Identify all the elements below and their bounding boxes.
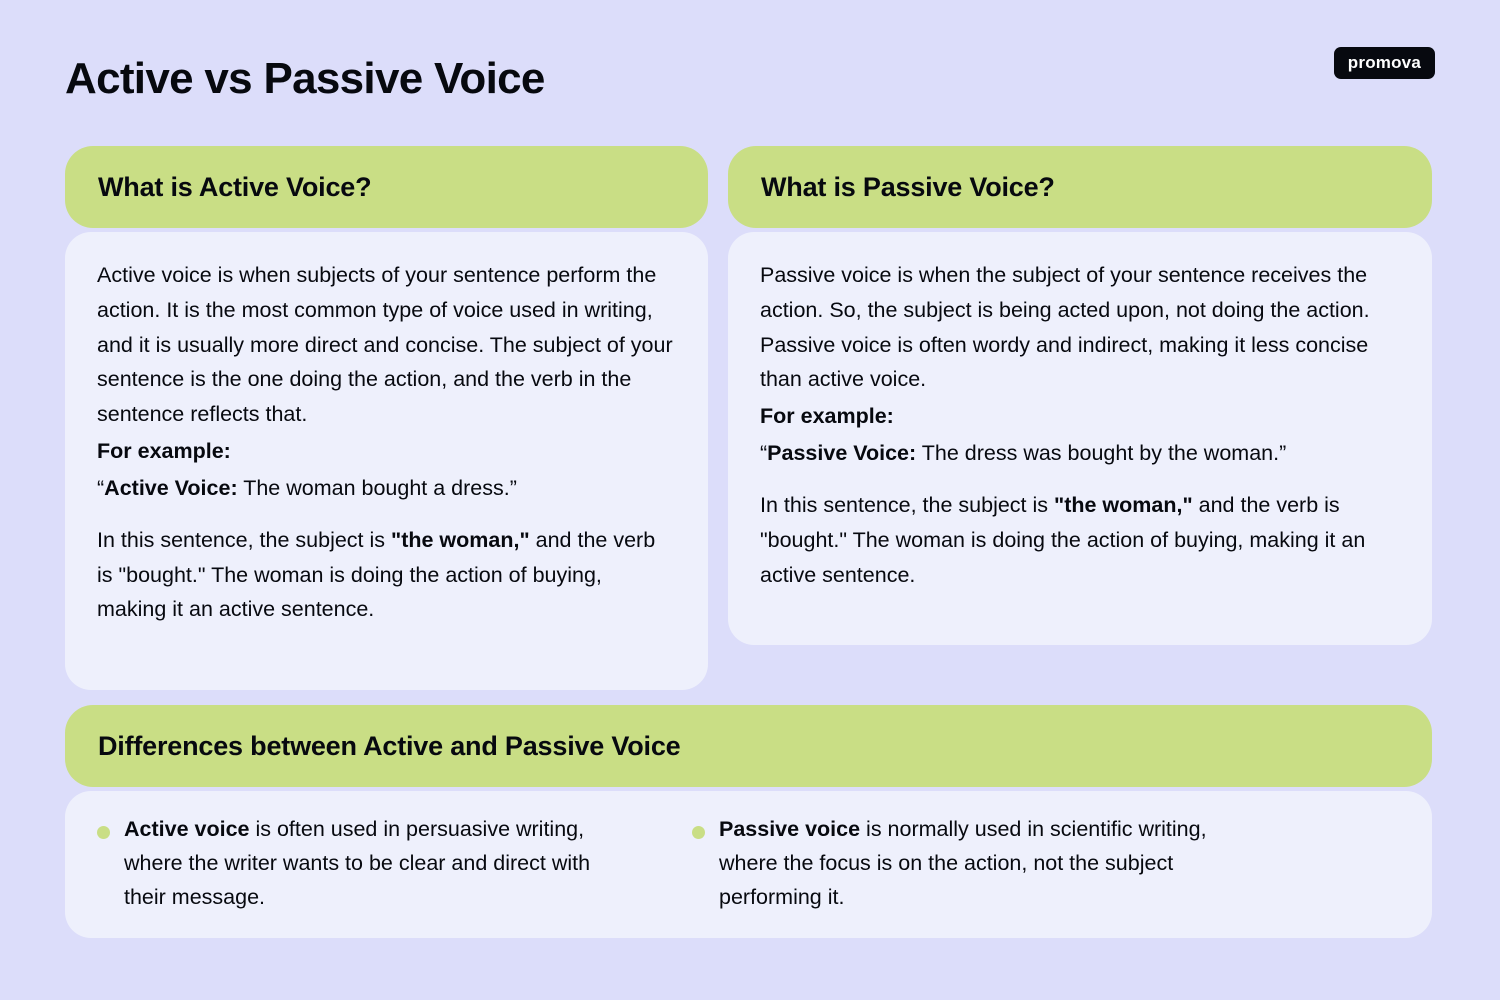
bullet-dot-icon <box>692 826 705 839</box>
differences-list: Active voice is often used in persuasive… <box>97 813 1400 915</box>
active-voice-heading-label: What is Active Voice? <box>65 172 371 203</box>
passive-voice-definition: Passive voice is when the subject of you… <box>760 258 1400 397</box>
promova-logo: promova <box>1334 47 1435 79</box>
passive-voice-card: Passive voice is when the subject of you… <box>728 232 1432 645</box>
page-title: Active vs Passive Voice <box>65 55 545 103</box>
passive-voice-example: “Passive Voice: The dress was bought by … <box>760 436 1400 471</box>
differences-heading-label: Differences between Active and Passive V… <box>65 731 680 762</box>
difference-text: Passive voice is normally used in scient… <box>719 813 1227 915</box>
differences-card: Active voice is often used in persuasive… <box>65 791 1432 938</box>
active-voice-explanation: In this sentence, the subject is "the wo… <box>97 523 676 627</box>
list-item: Passive voice is normally used in scient… <box>692 813 1227 915</box>
active-voice-heading-pill: What is Active Voice? <box>65 146 708 228</box>
active-voice-card: Active voice is when subjects of your se… <box>65 232 708 690</box>
passive-voice-explanation: In this sentence, the subject is "the wo… <box>760 488 1400 592</box>
differences-heading-pill: Differences between Active and Passive V… <box>65 705 1432 787</box>
active-voice-example: “Active Voice: The woman bought a dress.… <box>97 471 676 506</box>
passive-voice-heading-label: What is Passive Voice? <box>728 172 1055 203</box>
list-item: Active voice is often used in persuasive… <box>97 813 632 915</box>
passive-voice-example-label: For example: <box>760 399 1400 434</box>
active-voice-example-label: For example: <box>97 434 676 469</box>
bullet-dot-icon <box>97 826 110 839</box>
difference-text: Active voice is often used in persuasive… <box>124 813 632 915</box>
passive-voice-heading-pill: What is Passive Voice? <box>728 146 1432 228</box>
active-voice-definition: Active voice is when subjects of your se… <box>97 258 676 432</box>
